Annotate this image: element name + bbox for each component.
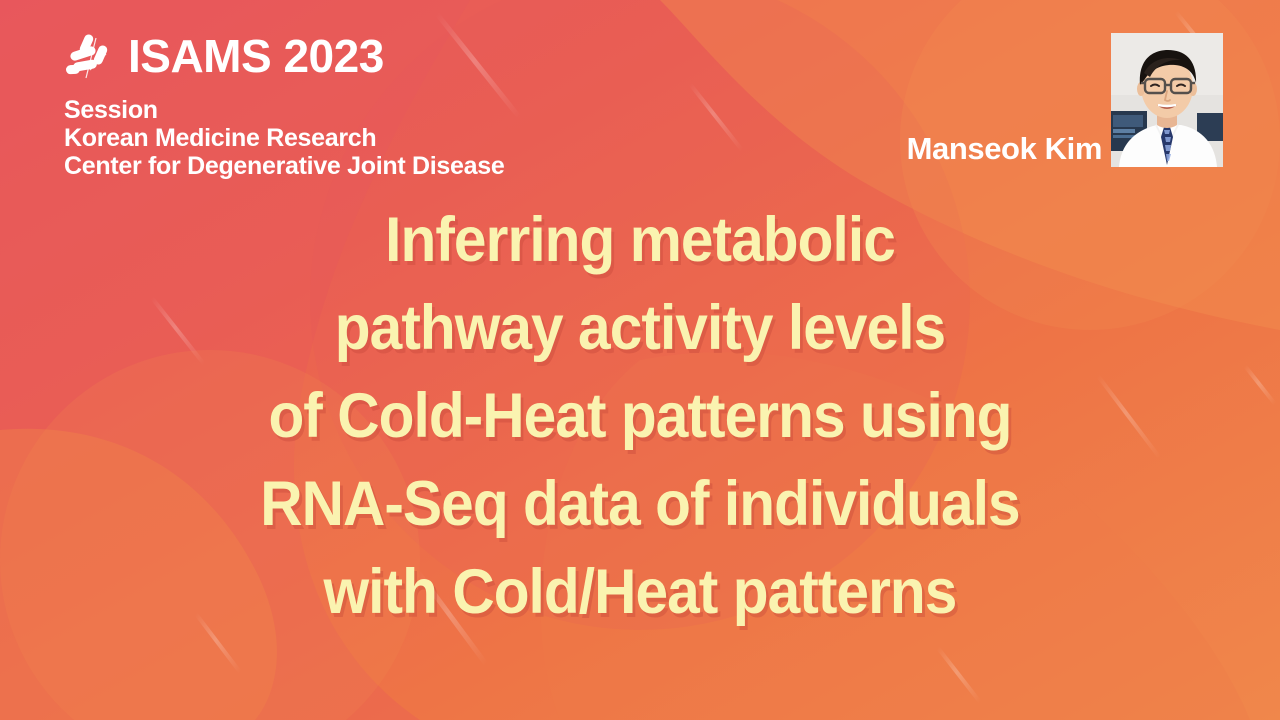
title-line-3: of Cold-Heat patterns using (45, 372, 1235, 460)
speaker-name: Manseok Kim (907, 131, 1102, 167)
title-line-2: pathway activity levels (45, 284, 1235, 372)
isams-leaf-needle-icon (60, 28, 116, 84)
title-line-4: RNA-Seq data of individuals (45, 460, 1235, 548)
isams-logo-svg (60, 28, 116, 84)
session-line-2: Korean Medicine Research (64, 124, 504, 152)
session-line-1: Session (64, 96, 504, 124)
title-line-5: with Cold/Heat patterns (45, 548, 1235, 636)
brand-title: ISAMS 2023 (128, 33, 384, 79)
presentation-title-slide: ISAMS 2023 Session Korean Medicine Resea… (0, 0, 1280, 720)
brand-row: ISAMS 2023 (60, 28, 384, 84)
speaker-photo (1111, 33, 1223, 167)
session-line-3: Center for Degenerative Joint Disease (64, 152, 504, 180)
slide-header: ISAMS 2023 Session Korean Medicine Resea… (0, 0, 1280, 190)
title-line-1: Inferring metabolic (45, 196, 1235, 284)
page-title: Inferring metabolic pathway activity lev… (45, 196, 1235, 636)
speaker-portrait-illustration (1111, 33, 1223, 167)
session-block: Session Korean Medicine Research Center … (64, 96, 504, 180)
